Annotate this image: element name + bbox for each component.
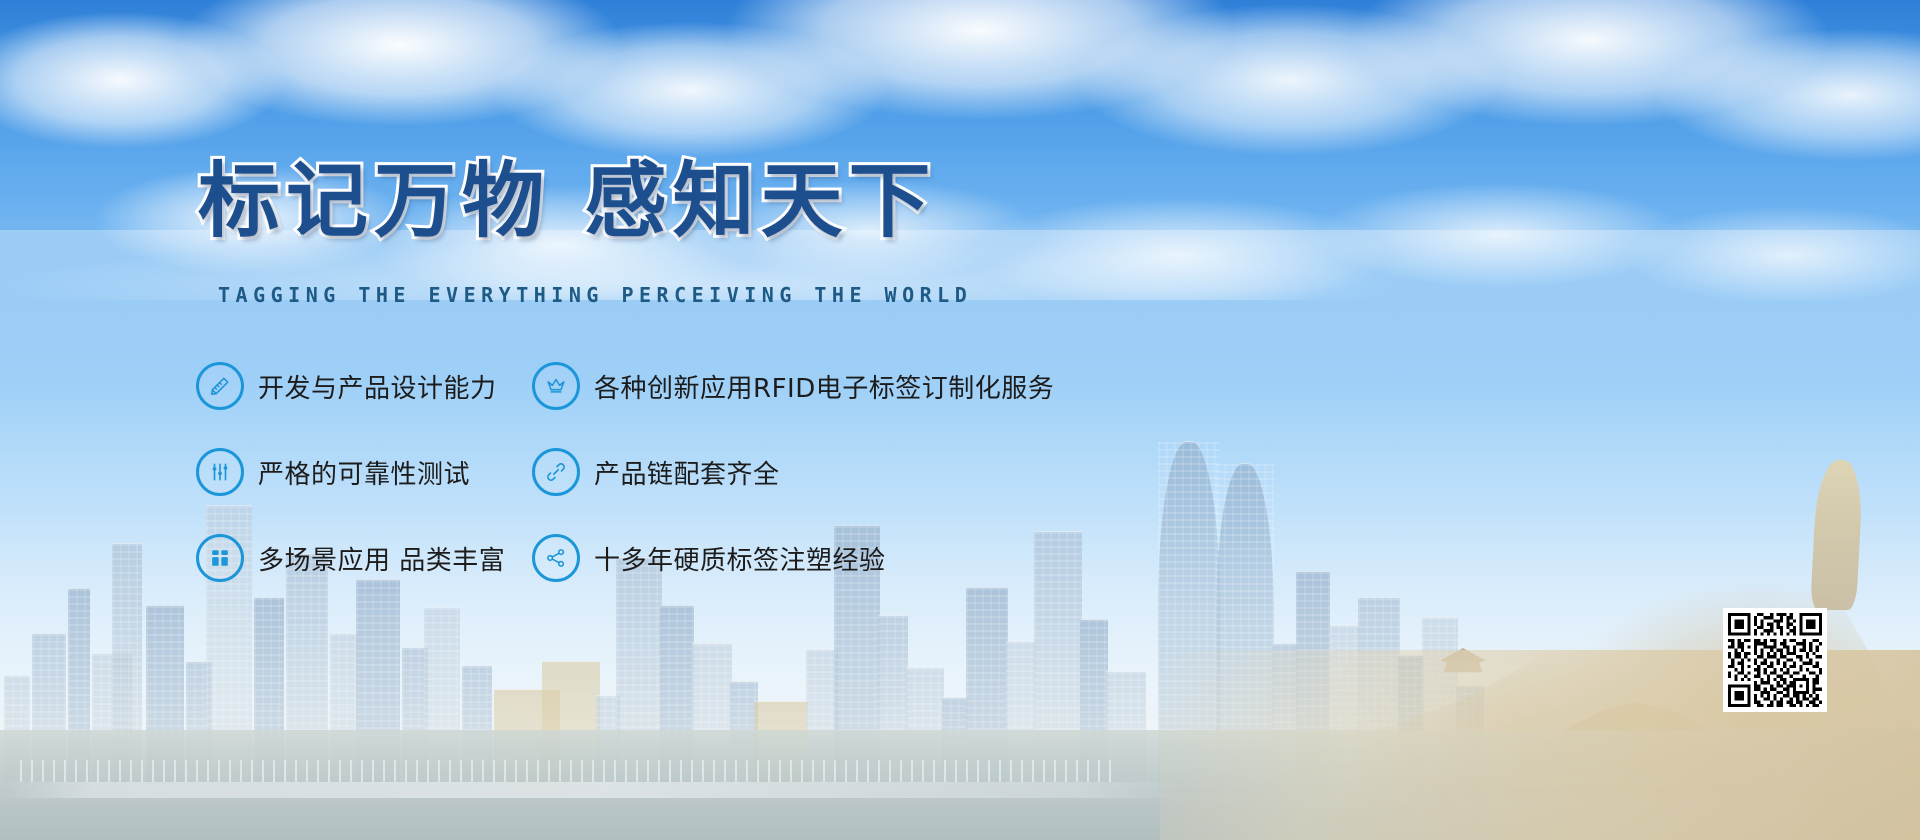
promotional-banner: 标记万物 感知天下 TAGGING THE EVERYTHING PERCEIV… <box>0 0 1920 840</box>
feature-label: 严格的可靠性测试 <box>258 454 470 491</box>
qr-code-image <box>1728 613 1822 707</box>
banner-subheadline: TAGGING THE EVERYTHING PERCEIVING THE WO… <box>218 283 972 307</box>
sliders-icon <box>196 448 244 496</box>
feature-item-rfid-custom-service[interactable]: 各种创新应用RFID电子标签订制化服务 <box>532 362 1054 410</box>
feature-label: 十多年硬质标签注塑经验 <box>594 540 886 577</box>
banner-content: 标记万物 感知天下 TAGGING THE EVERYTHING PERCEIV… <box>0 0 1920 840</box>
feature-list: 开发与产品设计能力 各种创新应用RFID电子标签订制化服务 <box>196 362 1096 620</box>
feature-row-2: 严格的可靠性测试 产品链配套齐全 <box>196 448 1096 496</box>
qr-code[interactable] <box>1723 608 1827 712</box>
feature-item-multi-scenario[interactable]: 多场景应用 品类丰富 <box>196 534 532 582</box>
feature-item-injection-experience[interactable]: 十多年硬质标签注塑经验 <box>532 534 886 582</box>
feature-row-1: 开发与产品设计能力 各种创新应用RFID电子标签订制化服务 <box>196 362 1096 410</box>
feature-label: 产品链配套齐全 <box>594 454 780 491</box>
chain-link-icon <box>532 448 580 496</box>
feature-label: 多场景应用 品类丰富 <box>258 540 505 577</box>
feature-label: 各种创新应用RFID电子标签订制化服务 <box>594 368 1054 405</box>
feature-item-reliability-testing[interactable]: 严格的可靠性测试 <box>196 448 532 496</box>
grid-layout-icon <box>196 534 244 582</box>
feature-row-3: 多场景应用 品类丰富 十多年硬质标签注塑经验 <box>196 534 1096 582</box>
ruler-pencil-icon <box>196 362 244 410</box>
feature-item-development-design[interactable]: 开发与产品设计能力 <box>196 362 532 410</box>
banner-headline: 标记万物 感知天下 <box>198 161 937 243</box>
share-network-icon <box>532 534 580 582</box>
crown-icon <box>532 362 580 410</box>
feature-item-product-chain[interactable]: 产品链配套齐全 <box>532 448 780 496</box>
feature-label: 开发与产品设计能力 <box>258 368 497 405</box>
